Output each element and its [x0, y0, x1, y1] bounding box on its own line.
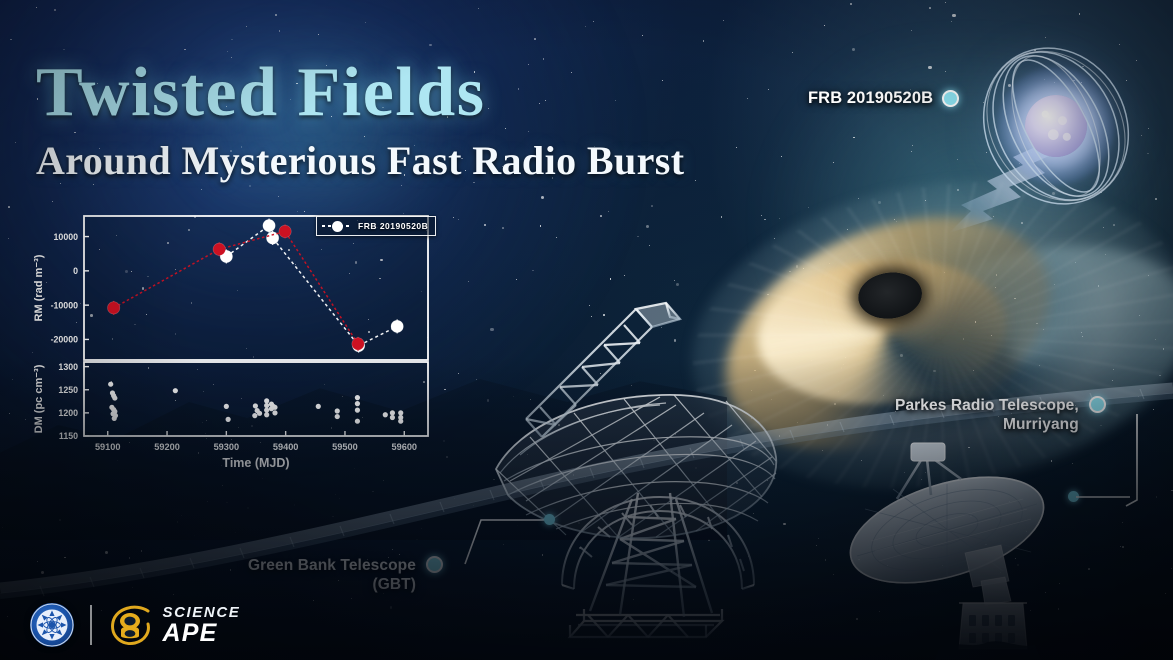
vignette	[0, 0, 1173, 660]
brand-line-2: APE	[163, 621, 241, 646]
observatory-seal-icon	[30, 603, 74, 647]
ape-mark-icon	[108, 602, 154, 648]
footer-divider	[90, 605, 92, 645]
science-ape-logo: SCIENCE APE	[108, 602, 241, 648]
brand-line-1: SCIENCE	[163, 605, 241, 620]
poster-canvas: Twisted Fields Around Mysterious Fast Ra…	[0, 0, 1173, 660]
footer-logos: SCIENCE APE	[30, 602, 240, 648]
